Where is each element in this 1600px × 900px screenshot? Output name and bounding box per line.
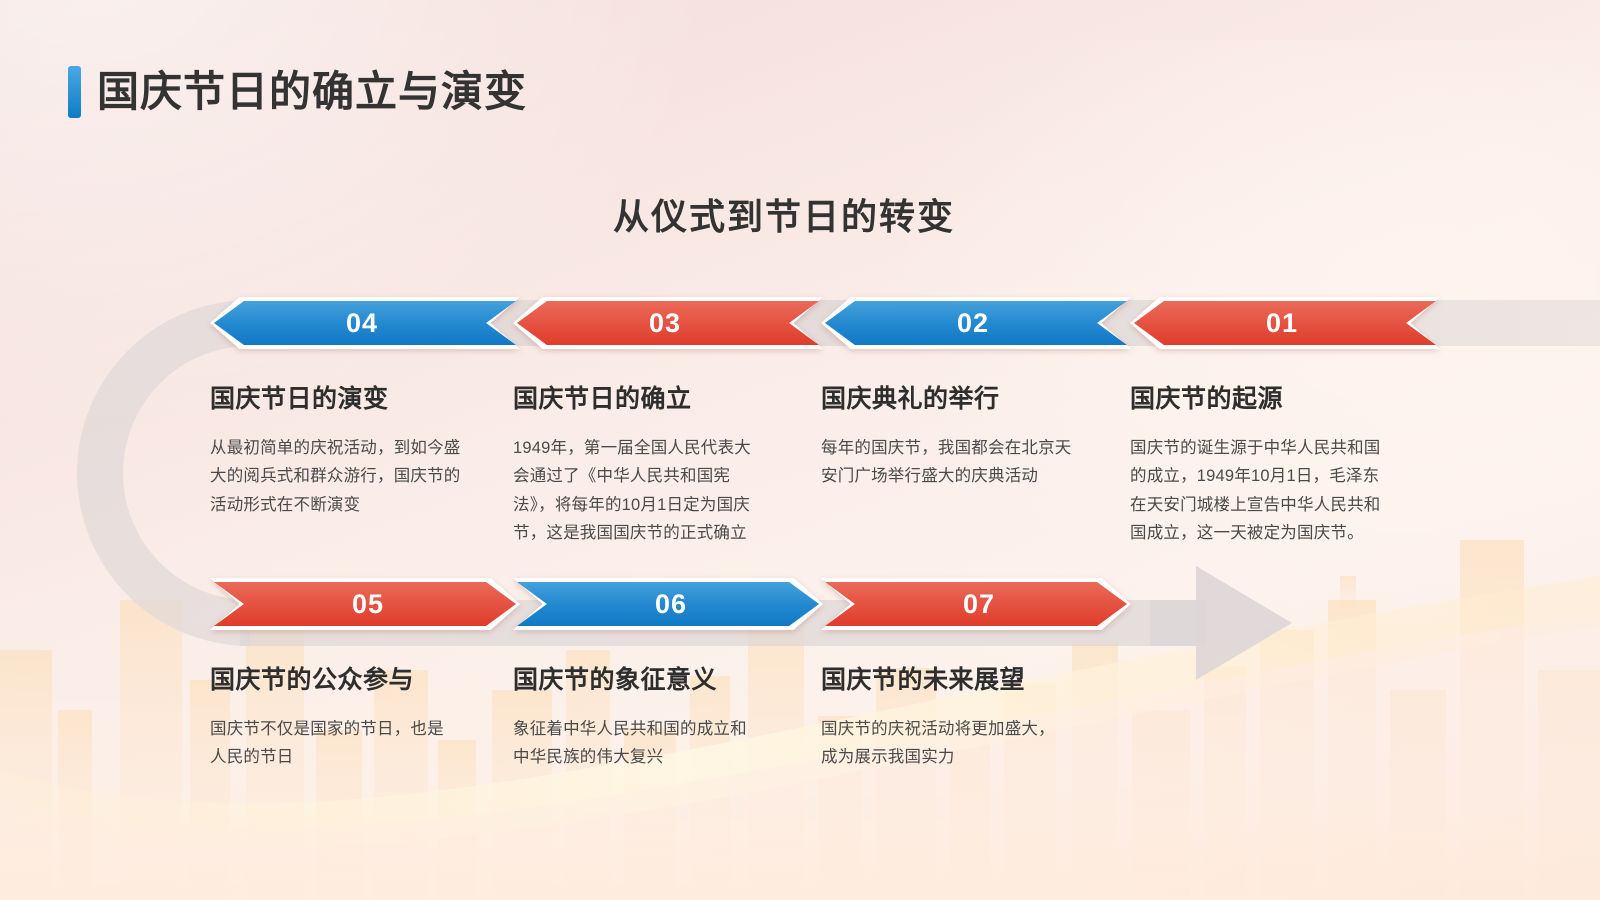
process-step-05[interactable]: 05国庆节的公众参与国庆节不仅是国家的节日，也是人民的节日 (210, 578, 520, 772)
step-body: 从最初简单的庆祝活动，到如今盛大的阅兵式和群众游行，国庆节的活动形式在不断演变 (210, 434, 462, 519)
step-number: 06 (655, 589, 687, 620)
step-heading: 国庆节的象征意义 (513, 660, 823, 696)
step-body: 国庆节不仅是国家的节日，也是人民的节日 (210, 715, 460, 772)
step-chevron-03[interactable]: 03 (513, 297, 823, 349)
process-step-02[interactable]: 02国庆典礼的举行每年的国庆节，我国都会在北京天安门广场举行盛大的庆典活动 (821, 297, 1131, 491)
step-heading: 国庆节日的演变 (210, 379, 520, 415)
step-chevron-02[interactable]: 02 (821, 297, 1131, 349)
process-step-03[interactable]: 03国庆节日的确立1949年，第一届全国人民代表大会通过了《中华人民共和国宪法》… (513, 297, 823, 548)
step-body: 象征着中华人民共和国的成立和中华民族的伟大复兴 (513, 715, 763, 772)
step-number: 07 (963, 589, 995, 620)
step-number: 03 (649, 308, 681, 339)
step-chevron-05[interactable]: 05 (210, 578, 520, 630)
title-text: 国庆节日的确立与演变 (97, 71, 527, 113)
slide-canvas: 国庆节日的确立与演变 从仪式到节日的转变 04国庆节日的演变从最初简单的庆祝活动… (0, 0, 1600, 900)
step-chevron-01[interactable]: 01 (1130, 297, 1440, 349)
process-step-06[interactable]: 06国庆节的象征意义象征着中华人民共和国的成立和中华民族的伟大复兴 (513, 578, 823, 772)
step-heading: 国庆节的公众参与 (210, 660, 520, 696)
title-accent-bar (68, 66, 81, 118)
step-chevron-06[interactable]: 06 (513, 578, 823, 630)
process-step-07[interactable]: 07国庆节的未来展望国庆节的庆祝活动将更加盛大，成为展示我国实力 (821, 578, 1131, 772)
process-step-01[interactable]: 01国庆节的起源国庆节的诞生源于中华人民共和国的成立，1949年10月1日，毛泽… (1130, 297, 1440, 548)
process-row-top: 04国庆节日的演变从最初简单的庆祝活动，到如今盛大的阅兵式和群众游行，国庆节的活… (0, 297, 1600, 547)
step-heading: 国庆节的未来展望 (821, 660, 1131, 696)
step-number: 05 (352, 589, 384, 620)
step-heading: 国庆节的起源 (1130, 379, 1440, 415)
step-number: 02 (957, 308, 989, 339)
process-step-04[interactable]: 04国庆节日的演变从最初简单的庆祝活动，到如今盛大的阅兵式和群众游行，国庆节的活… (210, 297, 520, 519)
step-heading: 国庆节日的确立 (513, 379, 823, 415)
step-heading: 国庆典礼的举行 (821, 379, 1131, 415)
step-body: 每年的国庆节，我国都会在北京天安门广场举行盛大的庆典活动 (821, 434, 1073, 491)
step-body: 1949年，第一届全国人民代表大会通过了《中华人民共和国宪法》，将每年的10月1… (513, 434, 765, 548)
subtitle-text: 从仪式到节日的转变 (613, 188, 955, 240)
page-title: 国庆节日的确立与演变 (68, 66, 527, 118)
step-body: 国庆节的诞生源于中华人民共和国的成立，1949年10月1日，毛泽东在天安门城楼上… (1130, 434, 1382, 548)
step-number: 04 (346, 308, 378, 339)
step-chevron-07[interactable]: 07 (821, 578, 1131, 630)
step-body: 国庆节的庆祝活动将更加盛大，成为展示我国实力 (821, 715, 1071, 772)
step-chevron-04[interactable]: 04 (210, 297, 520, 349)
step-number: 01 (1266, 308, 1298, 339)
section-subtitle: 从仪式到节日的转变 (0, 188, 1600, 240)
process-row-bottom: 05国庆节的公众参与国庆节不仅是国家的节日，也是人民的节日06国庆节的象征意义象… (0, 578, 1600, 778)
